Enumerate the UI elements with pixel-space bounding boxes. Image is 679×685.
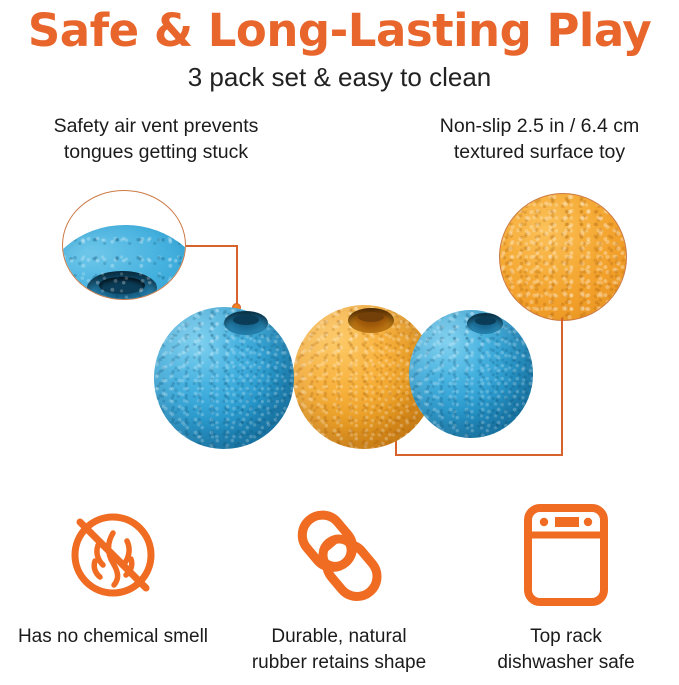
ball-air-vent-hole [467, 313, 503, 334]
dishwasher-icon [453, 500, 679, 610]
page-subtitle: 3 pack set & easy to clean [0, 62, 679, 93]
product-ball-blue-left [154, 307, 294, 449]
feature-no-chemical-smell: Has no chemical smell [0, 500, 226, 650]
ball-texture [154, 307, 294, 449]
air-vent-hole [87, 271, 157, 300]
leader-line-air-vent-horizontal [186, 245, 238, 247]
feature-durable-rubber: Durable, natural rubber retains shape [226, 500, 452, 676]
feature-label: Durable, natural rubber retains shape [226, 624, 452, 676]
texture-pattern [500, 194, 626, 320]
no-smell-icon [0, 500, 226, 610]
magnifier-inset-texture [499, 193, 627, 321]
vent-dome-surface [62, 225, 186, 300]
callout-caption-textured-surface: Non-slip 2.5 in / 6.4 cm textured surfac… [400, 113, 679, 165]
chain-link-icon [226, 500, 452, 610]
feature-label: Has no chemical smell [0, 624, 226, 650]
feature-label: Top rack dishwasher safe [453, 624, 679, 676]
leader-line-texture-horizontal [395, 454, 563, 456]
product-ball-blue-right [409, 310, 533, 438]
leader-line-air-vent-vertical [236, 245, 238, 309]
ball-air-vent-hole [224, 311, 268, 335]
magnifier-inset-air-vent [62, 190, 186, 300]
feature-dishwasher-safe: Top rack dishwasher safe [453, 500, 679, 676]
ball-air-vent-hole [348, 308, 394, 333]
page-title: Safe & Long-Lasting Play [0, 4, 679, 57]
callout-caption-air-vent: Safety air vent prevents tongues getting… [6, 113, 306, 165]
infographic-canvas: Safe & Long-Lasting Play 3 pack set & ea… [0, 0, 679, 685]
leader-line-texture-vertical-b [561, 318, 563, 456]
